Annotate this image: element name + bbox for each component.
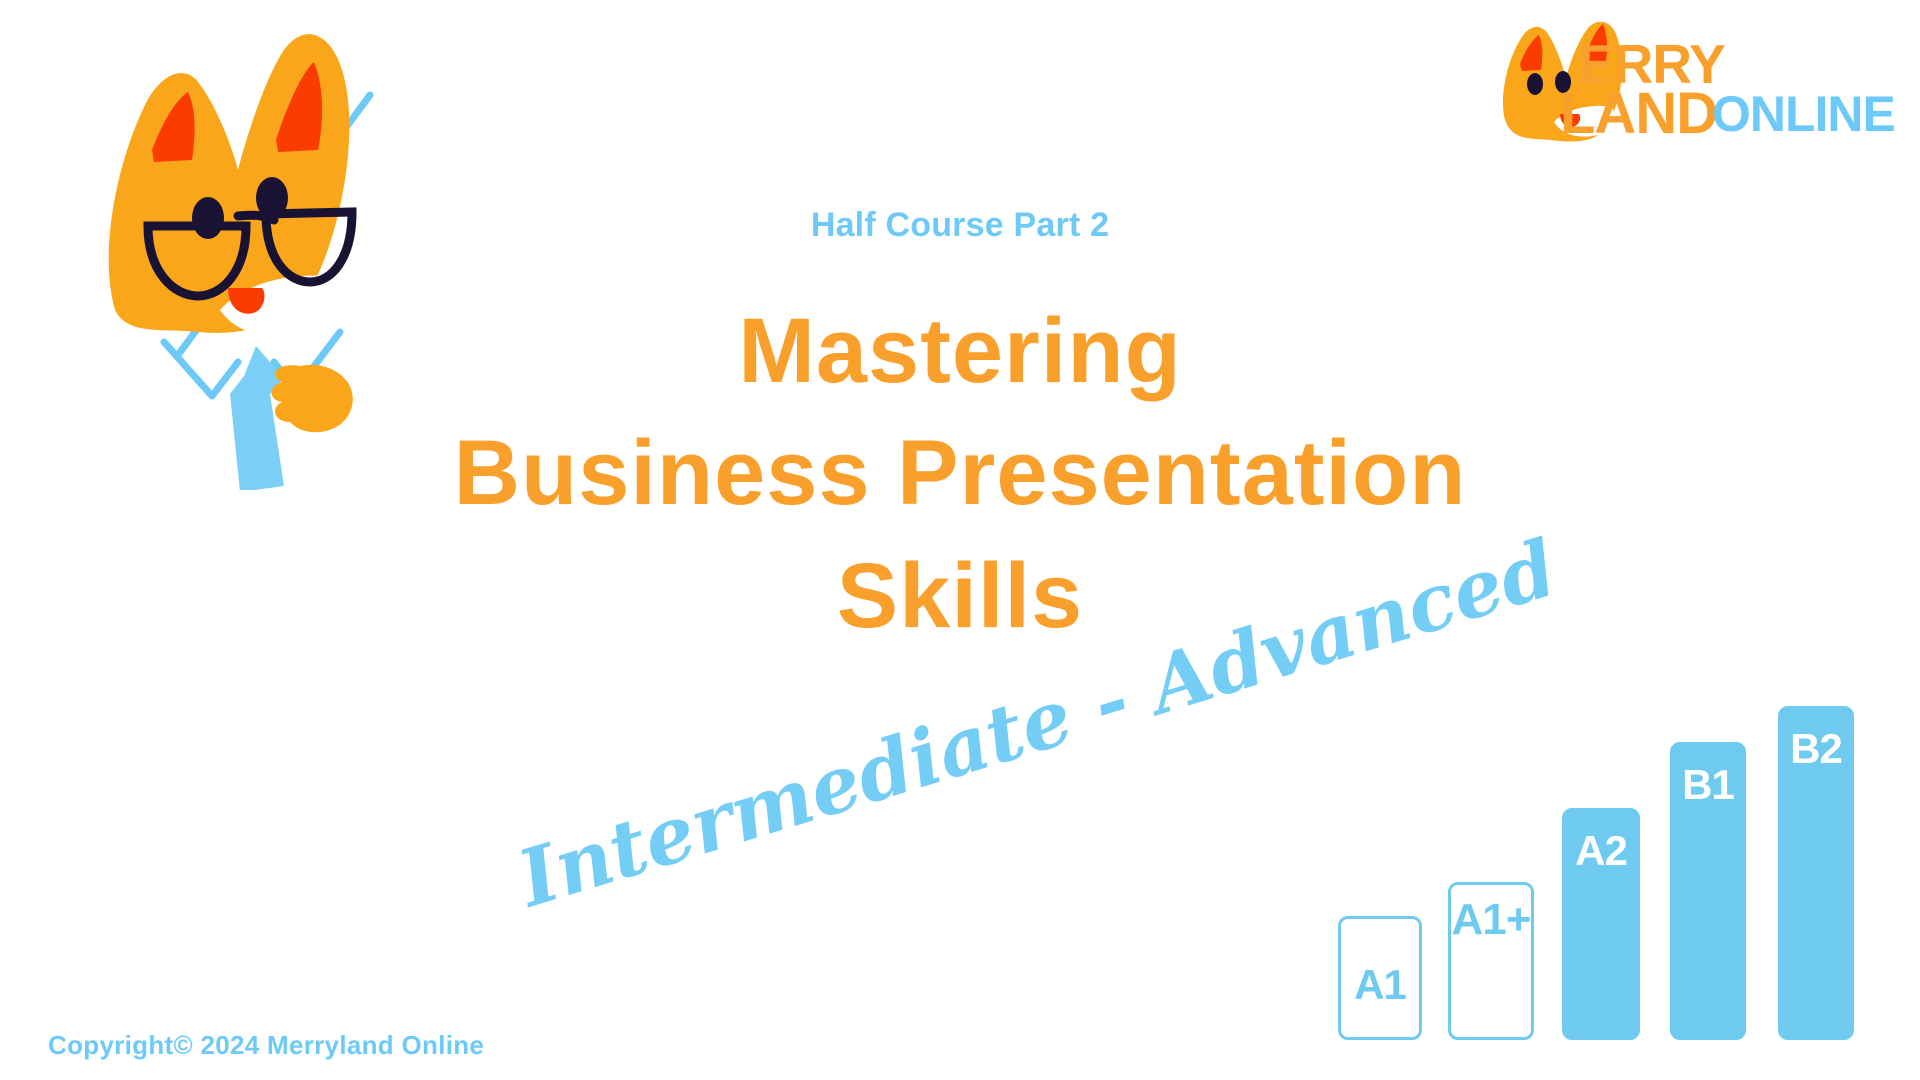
chart-bar-b2: B2 xyxy=(1778,706,1854,1040)
page-title: Mastering Business Presentation Skills xyxy=(0,290,1920,657)
chart-bar-label: A1 xyxy=(1341,961,1419,1009)
chart-bar-label: B1 xyxy=(1673,761,1743,809)
chart-bar-a1plus: A1+ xyxy=(1448,882,1534,1040)
cefr-level-bar-chart: A1A1+A2B1B2 xyxy=(1330,690,1920,1040)
title-line-3: Skills xyxy=(0,535,1920,657)
chart-bar-label: A2 xyxy=(1565,827,1637,875)
course-subtitle: Half Course Part 2 xyxy=(0,206,1920,245)
copyright-notice: Copyright© 2024 Merryland Online xyxy=(48,1030,484,1061)
slide-canvas: ERRY LAND ONLINE Half Course Part 2 Mast… xyxy=(0,0,1920,1080)
brand-logo[interactable]: ERRY LAND ONLINE xyxy=(1500,22,1900,152)
title-line-1: Mastering xyxy=(0,290,1920,412)
title-line-2: Business Presentation xyxy=(0,412,1920,534)
chart-bar-a2: A2 xyxy=(1562,808,1640,1040)
chart-bar-a1: A1 xyxy=(1338,916,1422,1040)
chart-bar-label: B2 xyxy=(1781,725,1851,773)
brand-word-online: ONLINE xyxy=(1712,85,1895,143)
chart-bar-b1: B1 xyxy=(1670,742,1746,1040)
brand-word-land: LAND xyxy=(1560,80,1717,147)
chart-bar-label: A1+ xyxy=(1451,895,1531,945)
